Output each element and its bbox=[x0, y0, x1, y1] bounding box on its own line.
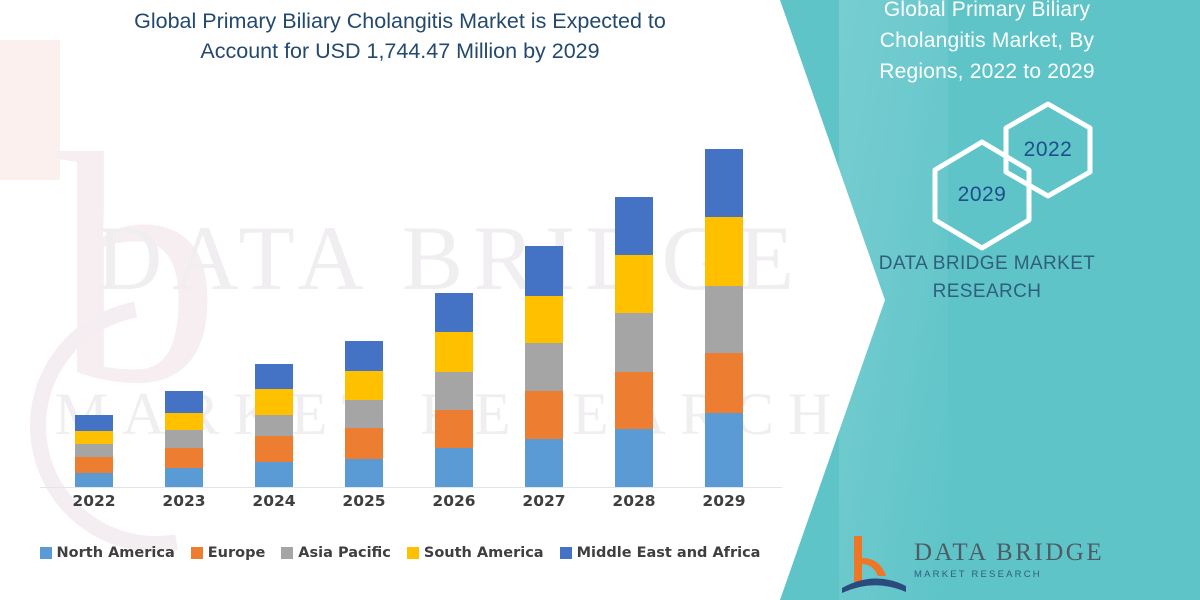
logo-subtitle: MARKET RESEARCH bbox=[914, 568, 1104, 582]
panel-title: Global Primary Biliary Cholangitis Marke… bbox=[780, 0, 1194, 87]
bar-segment[interactable] bbox=[705, 149, 743, 217]
bar-segment[interactable] bbox=[255, 436, 293, 462]
chart-title: Global Primary Biliary Cholangitis Marke… bbox=[60, 6, 740, 66]
legend-swatch-icon bbox=[560, 547, 572, 559]
x-axis-label-2027: 2027 bbox=[509, 492, 579, 510]
x-axis-label-2023: 2023 bbox=[149, 492, 219, 510]
legend-label: Middle East and Africa bbox=[577, 545, 761, 561]
panel-title-line-3: Regions, 2022 to 2029 bbox=[780, 56, 1194, 87]
bar-segment[interactable] bbox=[525, 343, 563, 391]
bar-segment[interactable] bbox=[435, 332, 473, 372]
x-axis-label-2026: 2026 bbox=[419, 492, 489, 510]
bar-segment[interactable] bbox=[705, 413, 743, 487]
bar-group bbox=[40, 100, 782, 487]
bar-segment[interactable] bbox=[525, 439, 563, 487]
x-axis-labels: 20222023202420252026202720282029 bbox=[40, 492, 800, 520]
legend-label: North America bbox=[57, 545, 175, 561]
panel-title-line-1: Global Primary Biliary bbox=[780, 0, 1194, 25]
bar-segment[interactable] bbox=[615, 255, 653, 313]
bar-segment[interactable] bbox=[705, 217, 743, 286]
bar-segment[interactable] bbox=[525, 246, 563, 296]
bar-segment[interactable] bbox=[75, 457, 113, 472]
chart-title-line-2: Account for USD 1,744.47 Million by 2029 bbox=[60, 36, 740, 66]
bar-segment[interactable] bbox=[435, 372, 473, 410]
legend-item[interactable]: Asia Pacific bbox=[281, 545, 391, 561]
x-axis-label-2029: 2029 bbox=[689, 492, 759, 510]
bar-segment[interactable] bbox=[705, 286, 743, 353]
bar-segment[interactable] bbox=[75, 473, 113, 488]
x-axis-label-2024: 2024 bbox=[239, 492, 309, 510]
bar-segment[interactable] bbox=[255, 415, 293, 435]
bridge-logo-icon bbox=[840, 532, 908, 594]
legend-label: Europe bbox=[208, 545, 266, 561]
legend-label: Asia Pacific bbox=[298, 545, 391, 561]
panel-brand: DATA BRIDGE MARKET RESEARCH bbox=[780, 250, 1194, 306]
legend-item[interactable]: North America bbox=[40, 545, 175, 561]
legend-swatch-icon bbox=[407, 547, 419, 559]
bar-segment[interactable] bbox=[165, 413, 203, 430]
bar-segment[interactable] bbox=[705, 353, 743, 413]
bar-segment[interactable] bbox=[435, 293, 473, 333]
bar-2022[interactable] bbox=[75, 415, 113, 488]
bar-segment[interactable] bbox=[525, 391, 563, 438]
bar-segment[interactable] bbox=[435, 410, 473, 449]
hexagon-start-year-label: 2022 bbox=[1024, 138, 1073, 162]
bar-segment[interactable] bbox=[165, 448, 203, 467]
chart-legend: North AmericaEuropeAsia PacificSouth Ame… bbox=[0, 538, 800, 568]
logo-name: DATA BRIDGE bbox=[914, 538, 1104, 568]
bar-segment[interactable] bbox=[255, 364, 293, 389]
chart-title-line-1: Global Primary Biliary Cholangitis Marke… bbox=[60, 6, 740, 36]
bar-2024[interactable] bbox=[255, 364, 293, 487]
legend-swatch-icon bbox=[191, 547, 203, 559]
bar-segment[interactable] bbox=[165, 391, 203, 412]
bar-segment[interactable] bbox=[255, 462, 293, 487]
bar-2028[interactable] bbox=[615, 197, 653, 487]
bar-segment[interactable] bbox=[165, 430, 203, 448]
hexagon-start-year: 2022 bbox=[1002, 100, 1094, 200]
bar-2025[interactable] bbox=[345, 341, 383, 487]
legend-item[interactable]: Middle East and Africa bbox=[560, 545, 761, 561]
bar-2029[interactable] bbox=[705, 149, 743, 487]
x-axis-label-2022: 2022 bbox=[59, 492, 129, 510]
company-logo: DATA BRIDGE MARKET RESEARCH bbox=[840, 532, 1170, 600]
right-panel: Global Primary Biliary Cholangitis Marke… bbox=[780, 0, 1200, 600]
x-axis-line bbox=[40, 487, 782, 488]
legend-swatch-icon bbox=[40, 547, 52, 559]
bar-segment[interactable] bbox=[75, 431, 113, 444]
panel-brand-line-1: DATA BRIDGE MARKET bbox=[780, 250, 1194, 278]
bar-segment[interactable] bbox=[615, 313, 653, 372]
legend-item[interactable]: South America bbox=[407, 545, 544, 561]
logo-text-block: DATA BRIDGE MARKET RESEARCH bbox=[914, 538, 1104, 582]
bar-2023[interactable] bbox=[165, 391, 203, 487]
legend-label: South America bbox=[424, 545, 544, 561]
bar-segment[interactable] bbox=[435, 448, 473, 487]
bar-segment[interactable] bbox=[75, 444, 113, 458]
bar-segment[interactable] bbox=[345, 400, 383, 428]
hexagon-group: 2029 2022 bbox=[780, 96, 1200, 226]
bar-segment[interactable] bbox=[345, 341, 383, 371]
bar-segment[interactable] bbox=[255, 389, 293, 415]
panel-brand-line-2: RESEARCH bbox=[780, 278, 1194, 306]
bar-segment[interactable] bbox=[615, 429, 653, 487]
bar-segment[interactable] bbox=[345, 371, 383, 400]
bar-2026[interactable] bbox=[435, 293, 473, 487]
hexagon-end-year-label: 2029 bbox=[958, 183, 1007, 207]
x-axis-label-2025: 2025 bbox=[329, 492, 399, 510]
legend-swatch-icon bbox=[281, 547, 293, 559]
bar-2027[interactable] bbox=[525, 246, 563, 487]
x-axis-label-2028: 2028 bbox=[599, 492, 669, 510]
panel-title-line-2: Cholangitis Market, By bbox=[780, 25, 1194, 56]
bar-segment[interactable] bbox=[615, 197, 653, 255]
chart-plot-area bbox=[40, 100, 800, 488]
bar-segment[interactable] bbox=[525, 296, 563, 342]
bar-segment[interactable] bbox=[75, 415, 113, 431]
bar-segment[interactable] bbox=[165, 468, 203, 487]
infographic-canvas: b DATA BRIDGE MARKET RESEARCH Global Pri… bbox=[0, 0, 1200, 600]
bar-segment[interactable] bbox=[345, 459, 383, 487]
bar-segment[interactable] bbox=[615, 372, 653, 429]
legend-item[interactable]: Europe bbox=[191, 545, 266, 561]
bar-segment[interactable] bbox=[345, 428, 383, 459]
